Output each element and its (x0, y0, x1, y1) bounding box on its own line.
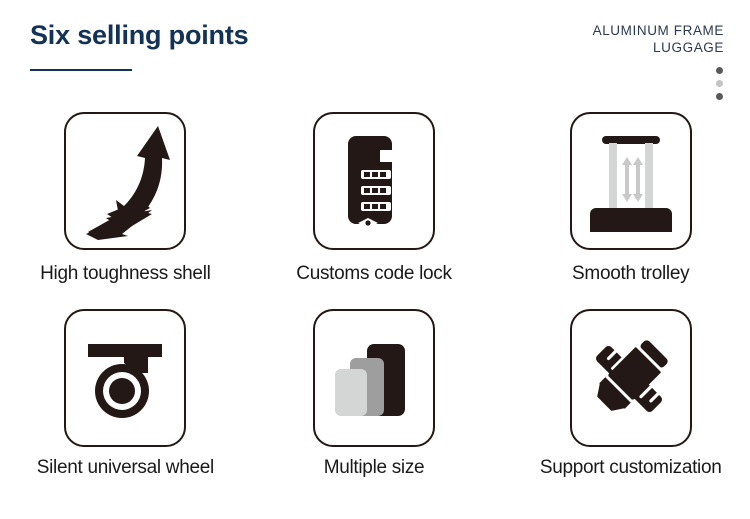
tsa-combination-lock-icon (315, 114, 433, 248)
dot-icon-1 (716, 67, 723, 74)
brand-line-1: ALUMINUM FRAME (593, 22, 724, 39)
feature-item-smooth-trolley[interactable]: Smooth trolley (493, 112, 750, 309)
dot-icon-3 (716, 93, 723, 100)
icon-card (64, 309, 186, 447)
feature-label: Silent universal wheel (37, 457, 214, 479)
feature-label: Support customization (540, 457, 722, 479)
feature-item-high-toughness-shell[interactable]: High toughness shell (0, 112, 245, 309)
icon-card (570, 309, 692, 447)
brand-line-2: LUGGAGE (593, 39, 724, 56)
spinner-wheel-icon (66, 311, 184, 445)
feature-label: Customs code lock (296, 263, 451, 285)
feature-label: Smooth trolley (572, 263, 689, 285)
page-title: Six selling points (30, 20, 248, 51)
crossed-pencil-ruler-icon (572, 311, 690, 445)
three-stacked-cases-icon (315, 311, 433, 445)
feature-item-customs-code-lock[interactable]: Customs code lock (245, 112, 494, 309)
telescopic-trolley-handle-icon (572, 114, 690, 248)
feature-label: High toughness shell (40, 263, 210, 285)
feature-row-2: Silent universal wheel Multiple size (0, 309, 750, 506)
brand-label: ALUMINUM FRAME LUGGAGE (593, 22, 724, 56)
feature-item-silent-universal-wheel[interactable]: Silent universal wheel (0, 309, 245, 506)
dot-icon-2 (716, 80, 723, 87)
feature-item-multiple-size[interactable]: Multiple size (245, 309, 494, 506)
icon-card (313, 112, 435, 250)
feature-item-support-customization[interactable]: Support customization (493, 309, 750, 506)
title-underline-rule (30, 69, 132, 71)
curved-double-arrow-icon (66, 114, 184, 248)
icon-card (313, 309, 435, 447)
icon-card (570, 112, 692, 250)
decorative-dots (716, 67, 723, 100)
feature-row-1: High toughness shell (0, 112, 750, 309)
feature-grid: High toughness shell (0, 112, 750, 506)
icon-card (64, 112, 186, 250)
feature-label: Multiple size (324, 457, 425, 479)
